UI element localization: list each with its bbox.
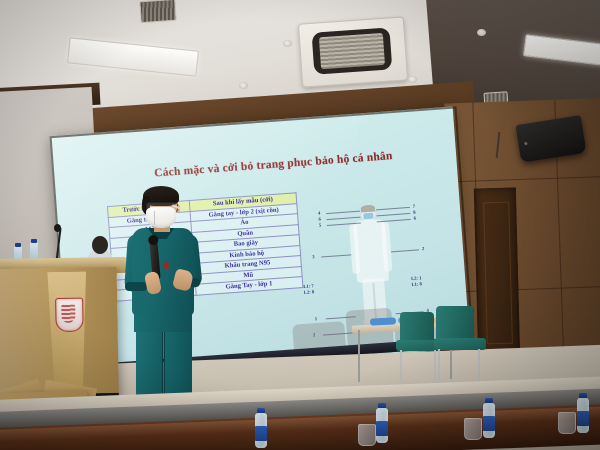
diagram-label-l2-8: L2: 8 xyxy=(304,289,315,295)
podium-microphone-head xyxy=(54,224,61,232)
downlight xyxy=(408,76,417,83)
leader-line xyxy=(391,249,419,252)
diagram-label-1: 1 xyxy=(315,316,318,322)
figure-mask xyxy=(363,213,373,220)
presenter-sleeve-cuff-left xyxy=(125,282,147,291)
microphone-head xyxy=(148,235,159,246)
attendee-silhouette xyxy=(92,236,108,254)
crest-inner-device xyxy=(61,305,75,323)
institution-crest-emblem xyxy=(55,298,82,330)
drinking-glass[interactable] xyxy=(358,424,376,446)
chair[interactable] xyxy=(434,306,504,384)
bottle-label xyxy=(376,421,388,436)
crest-shield xyxy=(55,298,84,332)
ceiling-vent xyxy=(139,0,176,23)
chair-leg xyxy=(438,349,440,384)
ppe-figure xyxy=(348,204,397,325)
diagram-label-2r: 2 xyxy=(422,246,425,252)
diagram-label-5: 5 xyxy=(319,222,322,228)
wall-panel-seam xyxy=(451,284,600,292)
bottle-cap xyxy=(31,239,37,243)
diagram-label-4: 4 xyxy=(318,211,321,217)
downlight xyxy=(239,82,248,89)
chair-leg xyxy=(478,349,480,384)
bottle-label xyxy=(483,416,495,431)
diagram-label-6r: 6 xyxy=(413,216,416,222)
chair-backrest xyxy=(436,306,474,340)
mask-seam xyxy=(154,211,155,225)
water-bottle[interactable] xyxy=(375,403,389,443)
drinking-glass[interactable] xyxy=(464,418,482,440)
presenter-chest-badge xyxy=(164,262,169,269)
speaker-indicator xyxy=(524,142,527,145)
wall-panel-seam xyxy=(447,175,600,183)
bottle-label xyxy=(577,411,589,426)
n95-face-mask xyxy=(146,207,176,228)
water-bottle[interactable] xyxy=(576,393,590,433)
bottle-cap xyxy=(15,243,21,247)
diagram-label-l1-8: L1: 8 xyxy=(411,281,422,287)
diagram-label-6: 6 xyxy=(318,216,321,222)
figure-gown xyxy=(353,219,389,283)
slide-title: Cách mặc và cởi bỏ trang phục bảo hộ cá … xyxy=(148,149,398,181)
drinking-glass[interactable] xyxy=(558,412,576,434)
diagram-label-7: 7 xyxy=(413,204,416,210)
photo-scene: Cách mặc và cởi bỏ trang phục bảo hộ cá … xyxy=(0,0,600,450)
water-bottle[interactable] xyxy=(482,398,496,438)
air-conditioner-unit xyxy=(298,16,408,87)
leader-line xyxy=(321,254,351,257)
chair-leg xyxy=(400,350,402,382)
bottle-label xyxy=(255,426,267,441)
ac-inner-frame xyxy=(312,27,393,74)
water-bottle[interactable] xyxy=(254,408,268,448)
downlight xyxy=(477,29,486,36)
diagram-label-8: 8 xyxy=(413,210,416,216)
chair-backrest xyxy=(400,312,434,342)
figure-cap xyxy=(361,205,375,213)
downlight xyxy=(283,40,292,47)
ac-grille xyxy=(319,33,385,69)
diagram-label-3: 3 xyxy=(312,254,315,260)
